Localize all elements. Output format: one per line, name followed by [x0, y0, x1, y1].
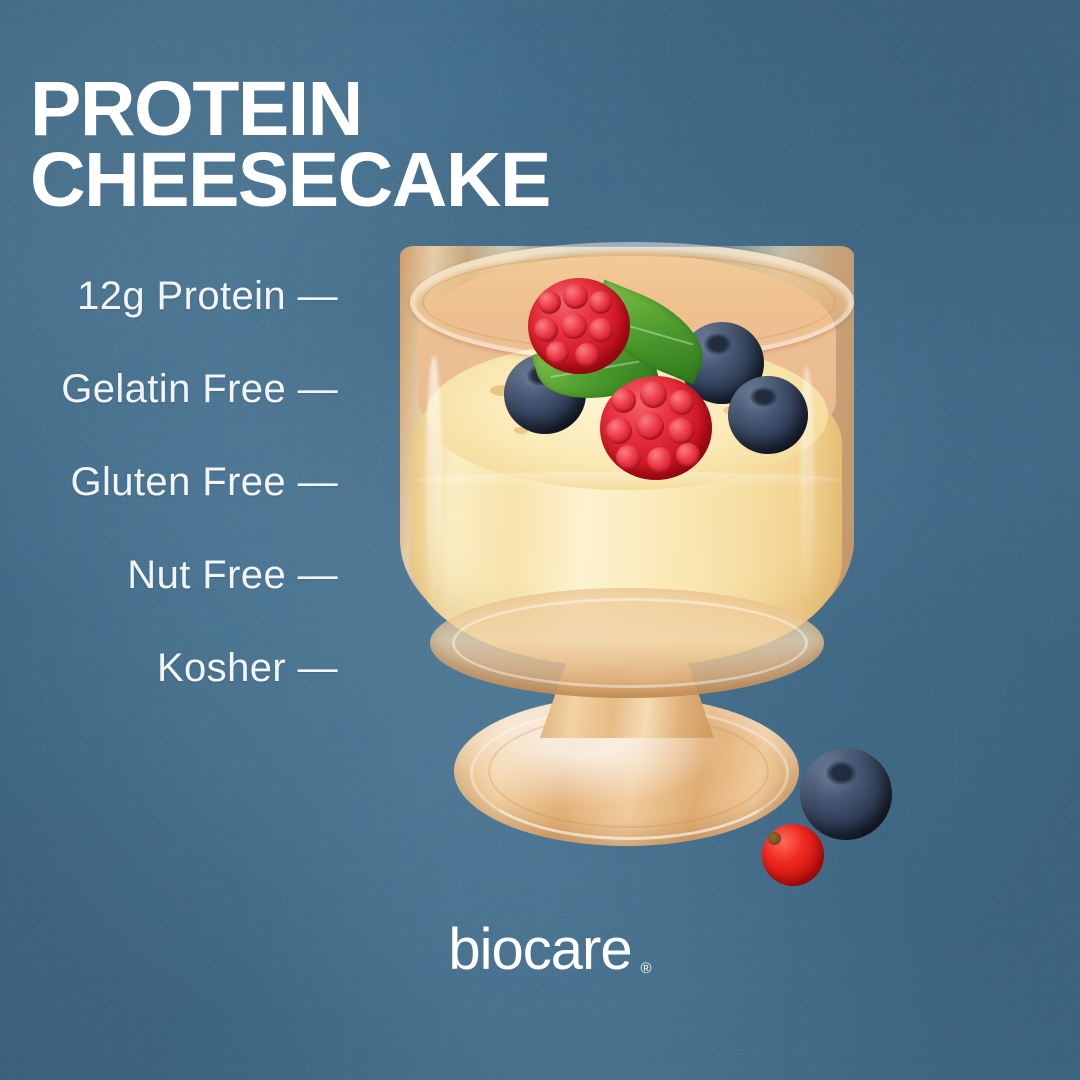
page-title: PROTEIN CHEESECAKE — [30, 74, 550, 217]
brand-name: biocare — [448, 917, 631, 982]
glass-highlight-left — [426, 356, 442, 606]
glass-bowl-bottom-ring — [452, 598, 808, 688]
loose-red-currant — [762, 824, 824, 886]
product-photo — [392, 236, 862, 861]
brand-logo: biocare ® — [0, 916, 1080, 983]
feature-item-gelatin-free: Gelatin Free — — [0, 369, 338, 409]
promo-canvas: PROTEIN CHEESECAKE 12g Protein — Gelatin… — [0, 0, 1080, 1080]
blueberry-topping-far-right — [728, 376, 808, 454]
raspberry-topping-top — [528, 278, 630, 374]
feature-item-nut-free: Nut Free — — [0, 555, 338, 595]
raspberry-topping-front — [600, 376, 712, 480]
trademark-symbol: ® — [641, 960, 652, 977]
feature-list: 12g Protein — Gelatin Free — Gluten Free… — [0, 276, 338, 741]
feature-item-gluten-free: Gluten Free — — [0, 462, 338, 502]
glass-seam — [414, 472, 840, 488]
feature-item-protein: 12g Protein — — [0, 276, 338, 316]
feature-item-kosher: Kosher — — [0, 648, 338, 688]
loose-blueberry — [800, 748, 892, 840]
